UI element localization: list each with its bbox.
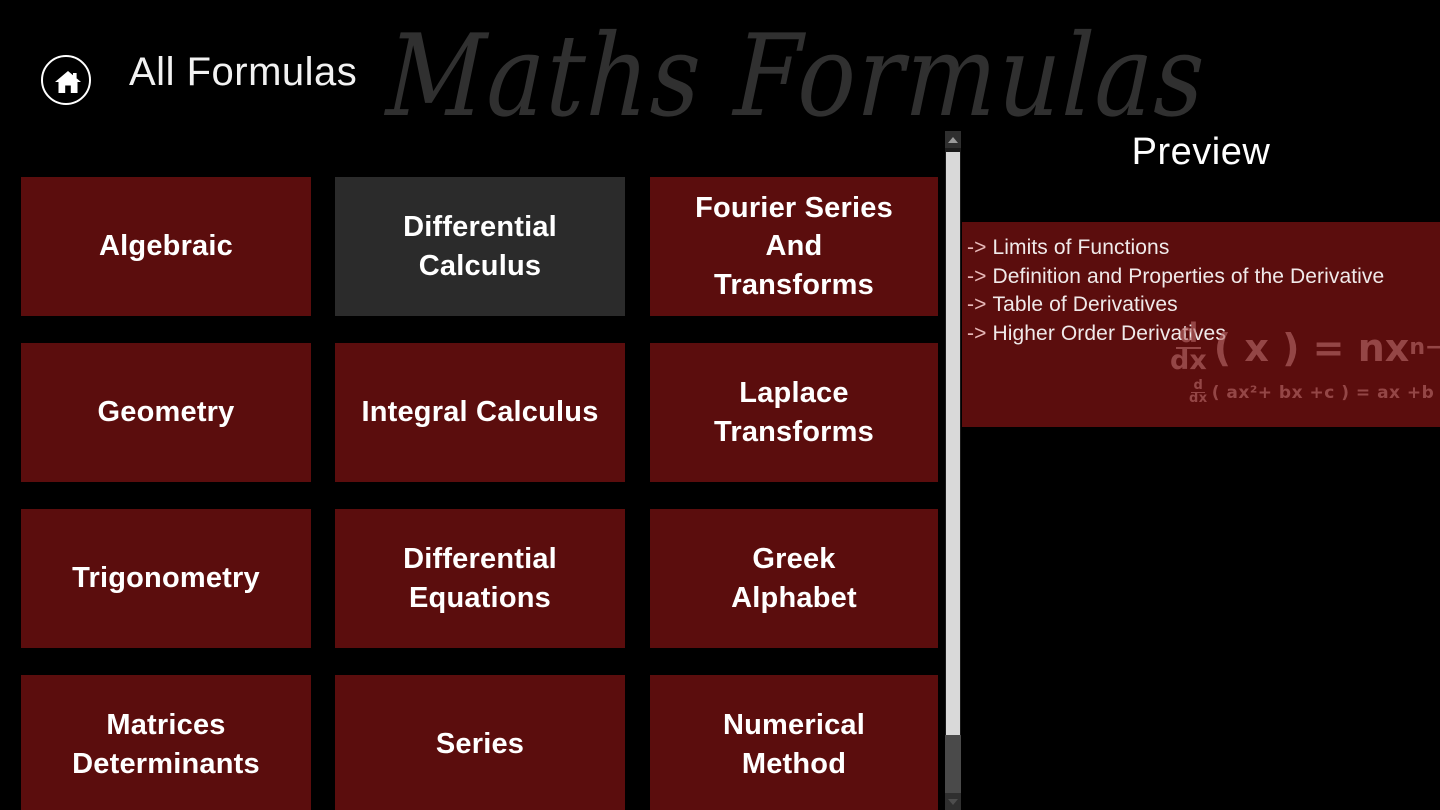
category-tile[interactable]: Series [335, 675, 625, 810]
category-tile[interactable]: Matrices Determinants [21, 675, 311, 810]
fraction-d-dx-small: d dx [1187, 380, 1210, 406]
preview-topic-list: ->Limits of Functions->Definition and Pr… [967, 234, 1440, 348]
formula-small-body: ( ax²+ bx +c ) = ax +b [1212, 383, 1435, 403]
preview-title: Preview [962, 131, 1440, 174]
category-tile[interactable]: Trigonometry [21, 509, 311, 648]
category-tile-label: Geometry [98, 393, 235, 431]
page-title: All Formulas [129, 50, 357, 95]
category-tile[interactable]: Integral Calculus [335, 343, 625, 482]
formula-category-grid: AlgebraicDifferential CalculusFourier Se… [0, 140, 945, 810]
preview-topic-label: Higher Order Derivatives [992, 322, 1225, 345]
category-tile-label: Differential Calculus [403, 208, 557, 285]
category-tile[interactable]: Differential Equations [335, 509, 625, 648]
preview-topic-label: Limits of Functions [992, 236, 1169, 259]
grid-scrollbar[interactable] [945, 131, 961, 810]
category-tile-label: Differential Equations [403, 540, 557, 617]
arrow-icon: -> [967, 322, 986, 345]
app-watermark-title: Maths Formulas [384, 10, 1209, 140]
category-tile[interactable]: Algebraic [21, 177, 311, 316]
arrow-icon: -> [967, 236, 986, 259]
preview-topic-label: Table of Derivatives [992, 293, 1177, 316]
arrow-icon: -> [967, 293, 986, 316]
category-tile-label: Matrices Determinants [72, 706, 260, 783]
preview-topic-item[interactable]: ->Higher Order Derivatives [967, 320, 1440, 349]
preview-topic-item[interactable]: ->Definition and Properties of the Deriv… [967, 263, 1440, 292]
preview-card[interactable]: ->Limits of Functions->Definition and Pr… [962, 222, 1440, 427]
category-tile-label: Series [436, 725, 524, 763]
preview-topic-item[interactable]: ->Limits of Functions [967, 234, 1440, 263]
category-tile-label: Laplace Transforms [714, 374, 874, 451]
home-button[interactable] [41, 55, 91, 105]
category-tile[interactable]: Numerical Method [650, 675, 938, 810]
category-tile-label: Algebraic [99, 227, 233, 265]
scroll-up-button[interactable] [945, 131, 961, 148]
scrollbar-thumb[interactable] [946, 152, 960, 735]
category-tile[interactable]: Greek Alphabet [650, 509, 938, 648]
category-tile[interactable]: Geometry [21, 343, 311, 482]
category-tile-label: Greek Alphabet [731, 540, 857, 617]
category-tile[interactable]: Differential Calculus [335, 177, 625, 316]
preview-topic-item[interactable]: ->Table of Derivatives [967, 291, 1440, 320]
chevron-down-icon [948, 799, 958, 805]
category-tile[interactable]: Fourier Series And Transforms [650, 177, 938, 316]
category-tile-label: Numerical Method [723, 706, 865, 783]
preview-panel: Preview ->Limits of Functions->Definitio… [962, 131, 1440, 810]
preview-topic-label: Definition and Properties of the Derivat… [992, 265, 1384, 288]
app-header: All Formulas Maths Formulas [0, 0, 1440, 140]
scroll-down-button[interactable] [945, 793, 961, 810]
formula-derivative-quadratic: d dx ( ax²+ bx +c ) = ax +b [1187, 380, 1434, 406]
chevron-up-icon [948, 137, 958, 143]
category-tile-label: Fourier Series And Transforms [695, 189, 893, 304]
category-tile-label: Integral Calculus [361, 393, 598, 431]
arrow-icon: -> [967, 265, 986, 288]
scrollbar-track-lower[interactable] [945, 735, 961, 793]
category-tile-label: Trigonometry [72, 559, 260, 597]
category-tile[interactable]: Laplace Transforms [650, 343, 938, 482]
